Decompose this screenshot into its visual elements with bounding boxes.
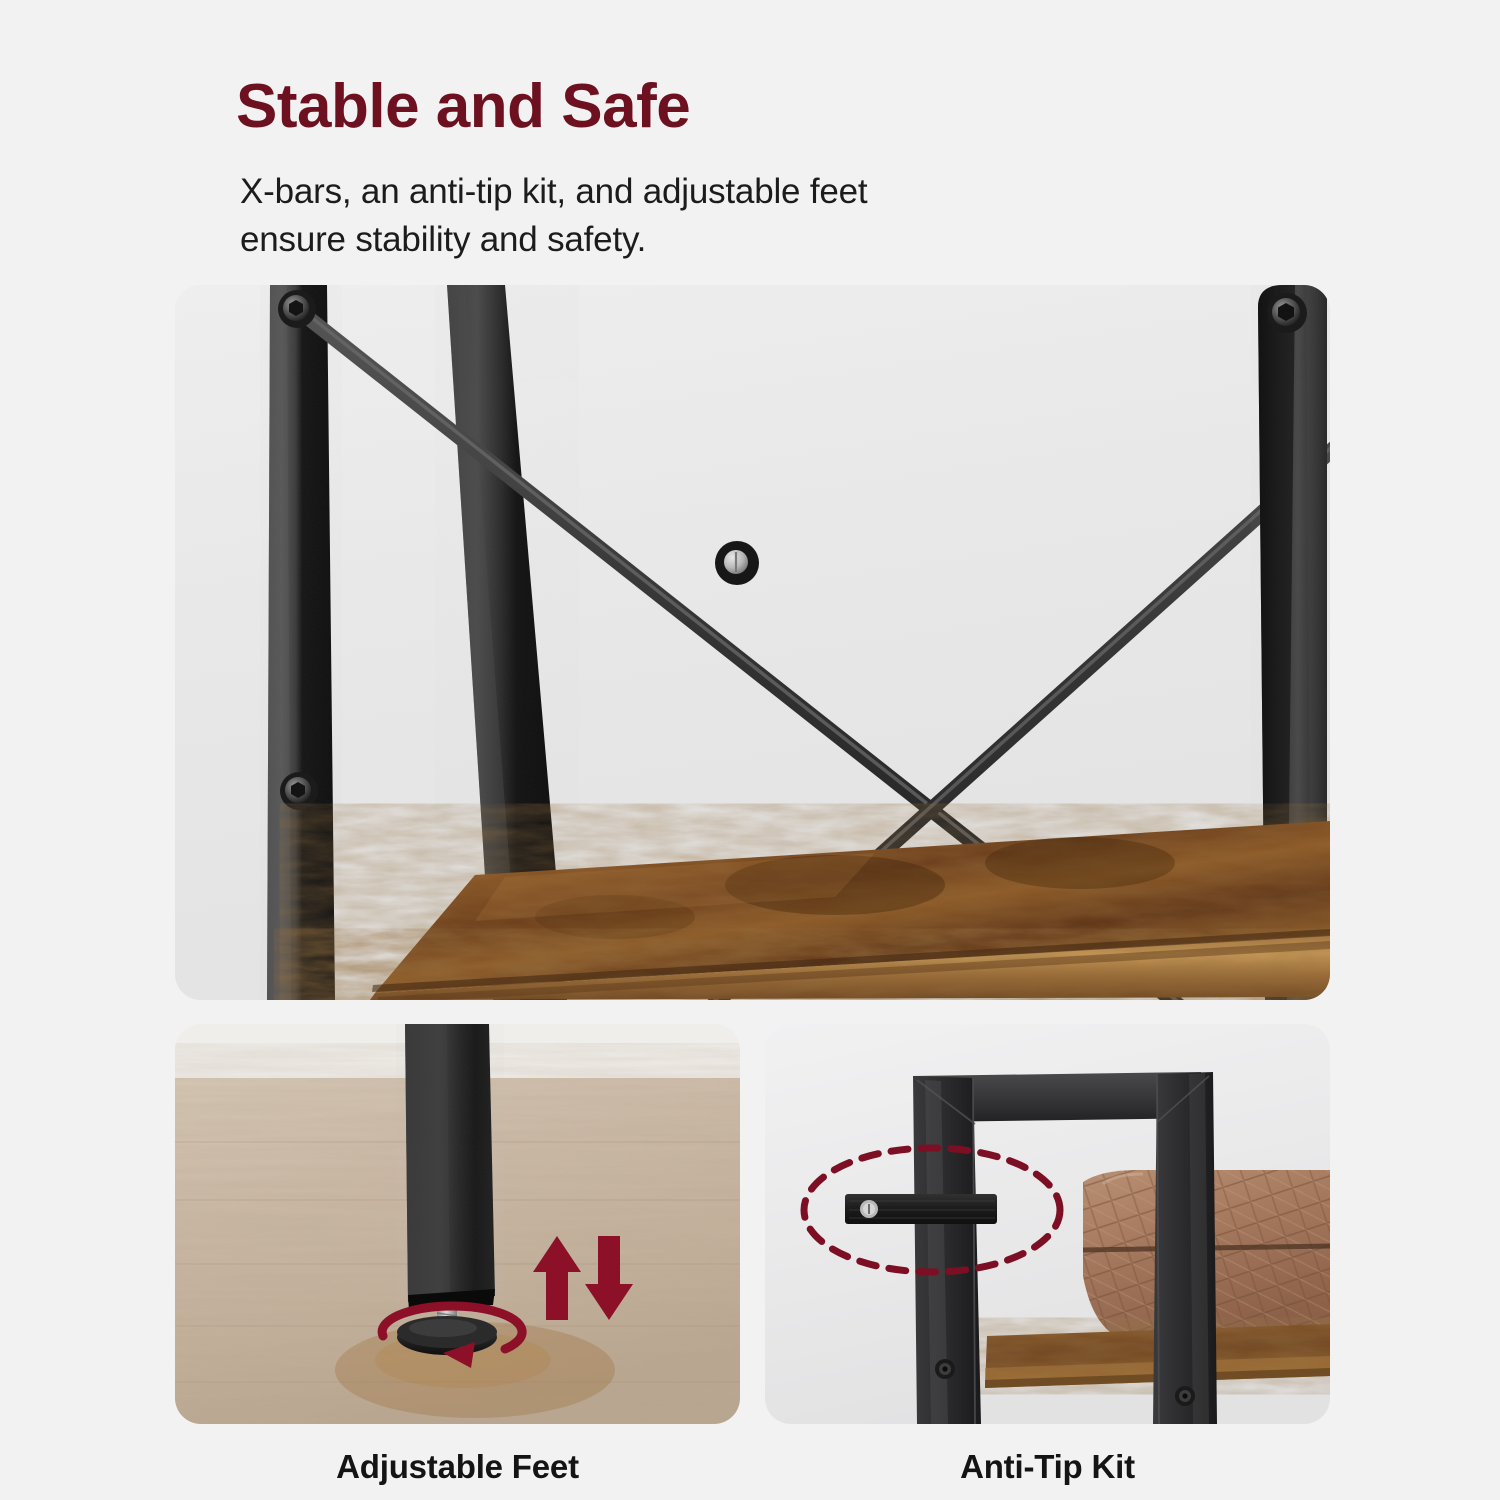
caption-adjustable-feet: Adjustable Feet xyxy=(175,1448,740,1486)
x-bars-panel xyxy=(175,285,1330,1000)
anti-tip-kit-illustration xyxy=(765,1024,1330,1424)
left-upright-post xyxy=(267,285,335,1000)
frame-screw-right xyxy=(1175,1386,1195,1406)
x-bar-centre-rivet xyxy=(715,541,759,585)
adjustable-feet-illustration xyxy=(175,1024,740,1424)
shelf-leg xyxy=(405,1024,495,1311)
bolt-top-right xyxy=(1267,293,1307,333)
bolt-top-left xyxy=(278,290,316,328)
page-subtitle: X-bars, an anti-tip kit, and adjustable … xyxy=(240,168,867,265)
anti-tip-strap xyxy=(845,1194,997,1224)
caption-anti-tip-kit: Anti-Tip Kit xyxy=(765,1448,1330,1486)
strap-screw xyxy=(860,1200,878,1218)
adjustable-feet-panel xyxy=(175,1024,740,1424)
page-title: Stable and Safe xyxy=(236,74,690,139)
adjustable-foot-pad xyxy=(397,1316,497,1355)
anti-tip-kit-panel xyxy=(765,1024,1330,1424)
bolt-bottom-left xyxy=(280,772,318,810)
x-bars-illustration xyxy=(175,285,1330,1000)
infographic-page: Stable and Safe X-bars, an anti-tip kit,… xyxy=(0,0,1500,1500)
frame-screw-left xyxy=(935,1359,955,1379)
